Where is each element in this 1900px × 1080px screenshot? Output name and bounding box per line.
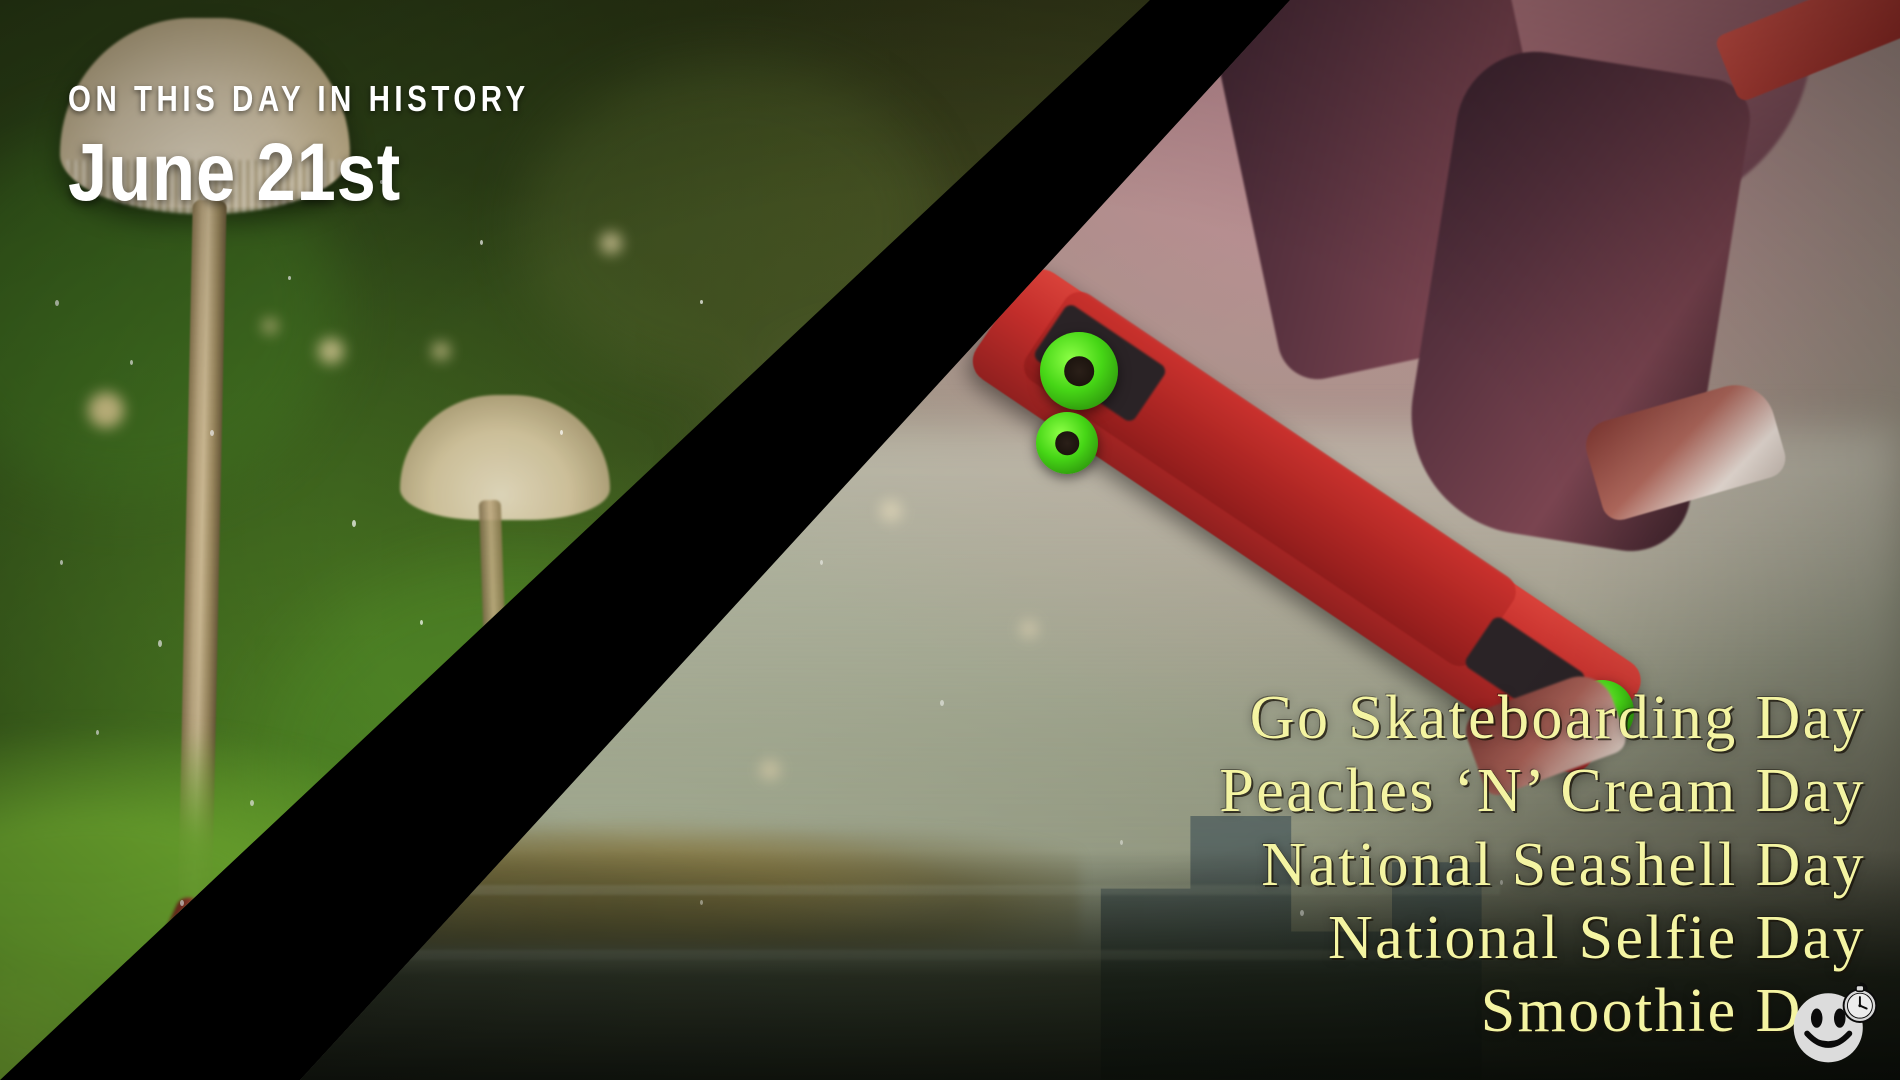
stopwatch-icon <box>1844 984 1877 1022</box>
list-item: Smoothie Day <box>1219 975 1866 1048</box>
page-title-date: June 21st <box>68 132 552 214</box>
list-item: Peaches ‘N’ Cream Day <box>1219 755 1866 828</box>
observances-list: Go Skateboarding Day Peaches ‘N’ Cream D… <box>1219 682 1866 1048</box>
kicker-on-this-day-in-history: ON THIS DAY IN HISTORY <box>68 78 530 120</box>
poster-canvas: ON THIS DAY IN HISTORY June 21st Go Skat… <box>0 0 1900 1080</box>
list-item: Go Skateboarding Day <box>1219 682 1866 755</box>
headline-block: ON THIS DAY IN HISTORY June 21st <box>68 78 631 214</box>
list-item: National Seashell Day <box>1219 829 1866 902</box>
list-item: National Selfie Day <box>1219 902 1866 975</box>
smiley-face-with-stopwatch-logo[interactable] <box>1786 974 1882 1070</box>
